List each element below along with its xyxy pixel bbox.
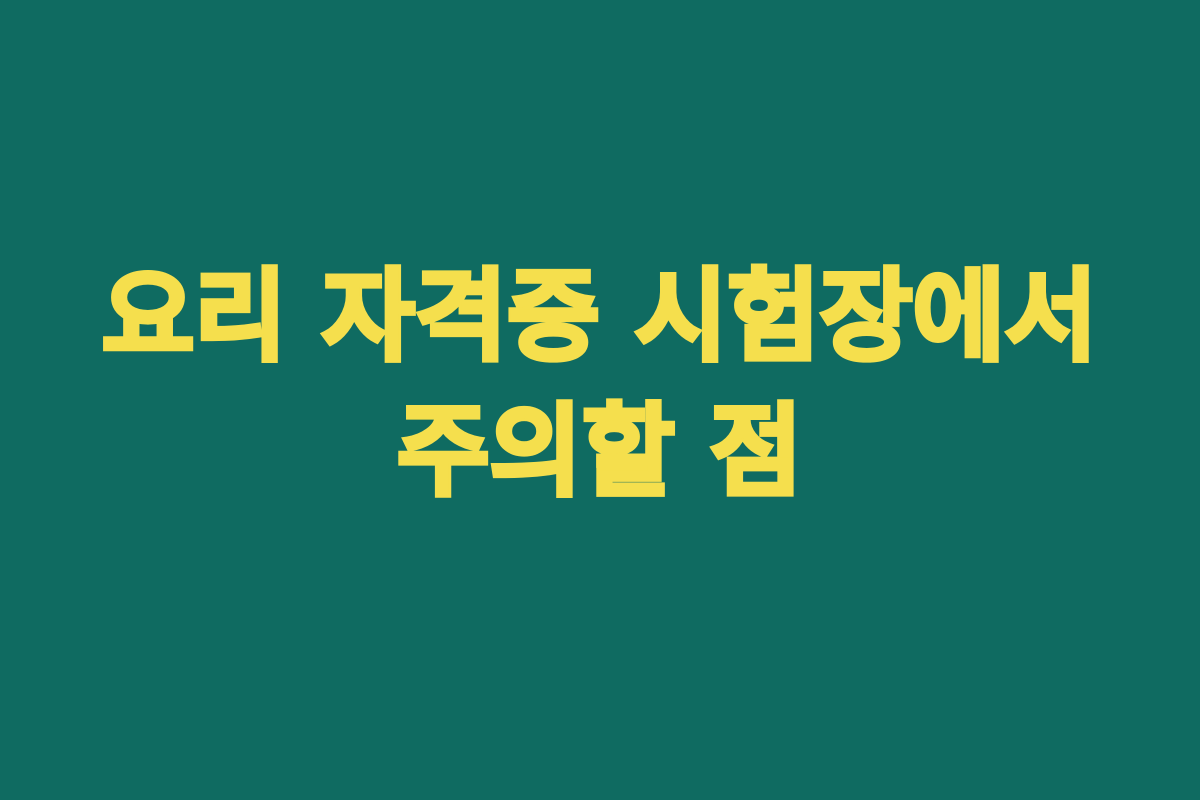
title-block: 요리 자격증 시험장에서 주의할 점: [0, 249, 1200, 519]
title-line-1: 요리 자격증 시험장에서: [0, 249, 1200, 384]
title-line-2: 주의할 점: [0, 384, 1200, 519]
poster-canvas: 요리 자격증 시험장에서 주의할 점: [0, 0, 1200, 800]
